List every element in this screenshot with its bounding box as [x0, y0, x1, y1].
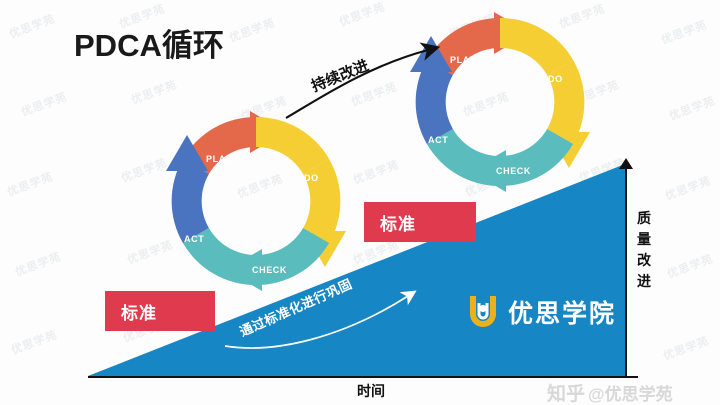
u-shape-logo-icon — [466, 292, 500, 332]
zhihu-source: 知乎 — [547, 379, 585, 405]
diagram-canvas: 优思学苑优思学苑优思学苑优思学苑优思学苑优思学苑优思学苑优思学苑优思学苑优思学苑… — [0, 0, 720, 405]
y-axis-label-char-3: 进 — [634, 271, 654, 292]
brand-name: 优思学院 — [508, 294, 616, 330]
background-watermark: 优思学苑 — [337, 0, 388, 30]
y-axis-label-char-0: 质 — [634, 208, 654, 229]
page-title: PDCA循环 — [74, 20, 224, 65]
segment-do-body — [303, 159, 340, 243]
standard-block-2: 标准 — [364, 202, 476, 242]
continuous-improvement-arrow — [282, 42, 462, 122]
background-watermark: 优思学苑 — [7, 10, 58, 41]
background-watermark: 优思学苑 — [661, 332, 712, 363]
segment-act-arc — [172, 159, 209, 243]
background-watermark: 优思学苑 — [19, 88, 70, 119]
y-axis-label-char-2: 改 — [634, 250, 654, 271]
x-axis-label: 时间 — [357, 381, 385, 401]
pdca-cycle-lower: PLAN DO CHECK ACT — [166, 111, 346, 291]
pdca-wheel-graphic — [166, 111, 346, 291]
x-axis-line — [88, 376, 638, 378]
background-watermark: 优思学苑 — [9, 326, 60, 357]
standard-block-1: 标准 — [105, 291, 215, 331]
background-watermark: 优思学苑 — [667, 92, 718, 123]
y-axis-line — [625, 164, 627, 377]
brand-logo: 优思学院 — [466, 292, 616, 332]
standard-block-2-label: 标准 — [380, 210, 416, 235]
segment-do-body — [547, 60, 584, 144]
y-axis-arrowhead — [619, 158, 633, 169]
background-watermark: 优思学苑 — [665, 250, 716, 281]
background-watermark: 优思学苑 — [5, 168, 56, 199]
y-axis-label-char-1: 量 — [634, 229, 654, 250]
standard-block-1-label: 标准 — [121, 299, 157, 324]
background-watermark: 优思学苑 — [227, 14, 278, 45]
zhihu-author: @优思学苑 — [588, 380, 673, 405]
background-watermark: 优思学苑 — [129, 76, 180, 107]
background-watermark: 优思学苑 — [663, 172, 714, 203]
zhihu-watermark: 知乎 @优思学苑 — [547, 379, 673, 405]
y-axis-label: 质量改进 — [634, 208, 654, 292]
background-watermark: 优思学苑 — [659, 16, 710, 47]
background-watermark: 优思学苑 — [13, 248, 64, 279]
